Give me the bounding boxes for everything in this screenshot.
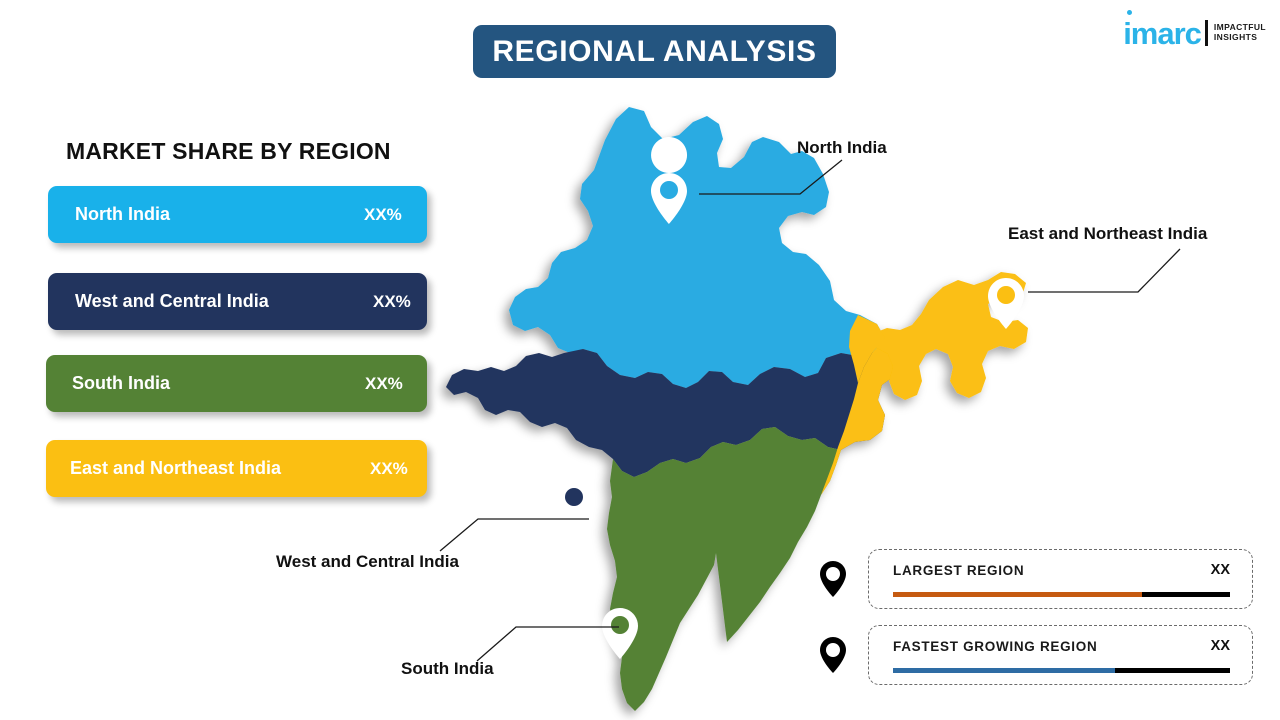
info-card-progress-fill [893, 592, 1142, 597]
logo-tagline: IMPACTFUL INSIGHTS [1214, 23, 1266, 43]
share-bar-value: XX% [364, 205, 402, 225]
logo-wordmark: imarc [1123, 18, 1201, 49]
info-card-label: LARGEST REGION [893, 563, 1024, 578]
logo-tagline-line2: INSIGHTS [1214, 33, 1266, 43]
share-bar-label: East and Northeast India [70, 458, 281, 479]
share-bar-south-india[interactable]: South IndiaXX% [46, 355, 427, 412]
share-bar-east-and-northeast-india[interactable]: East and Northeast IndiaXX% [46, 440, 427, 497]
page-title: REGIONAL ANALYSIS [492, 35, 816, 69]
share-bar-value: XX% [373, 292, 411, 312]
share-bar-label: South India [72, 373, 170, 394]
share-bar-value: XX% [365, 374, 403, 394]
share-bar-value: XX% [370, 459, 408, 479]
logo-dot-icon [1127, 10, 1132, 15]
callout-label-east-and-northeast-india: East and Northeast India [1008, 224, 1207, 244]
share-bar-label: West and Central India [75, 291, 269, 312]
info-card-progress-track [893, 592, 1230, 597]
market-share-heading: MARKET SHARE BY REGION [66, 138, 391, 165]
slide-canvas: REGIONAL ANALYSIS imarc IMPACTFUL INSIGH… [0, 0, 1280, 720]
info-card-value: XX [1211, 638, 1230, 654]
map-pin-west-central-india[interactable] [556, 480, 592, 531]
info-card-largest-region[interactable]: LARGEST REGIONXX [868, 549, 1253, 609]
share-bar-label: North India [75, 204, 170, 225]
page-title-banner: REGIONAL ANALYSIS [473, 25, 836, 78]
info-card-progress-fill [893, 668, 1115, 673]
logo-divider [1205, 20, 1208, 46]
location-pin-icon [818, 560, 848, 598]
info-card-value: XX [1211, 562, 1230, 578]
callout-label-west-and-central-india: West and Central India [276, 552, 459, 572]
logo-brand-text: imarc [1123, 16, 1201, 51]
share-bar-north-india[interactable]: North IndiaXX% [48, 186, 427, 243]
info-card-label: FASTEST GROWING REGION [893, 639, 1097, 654]
imarc-logo: imarc IMPACTFUL INSIGHTS [1123, 14, 1266, 52]
location-pin-icon [818, 636, 848, 674]
info-card-fastest-growing-region[interactable]: FASTEST GROWING REGIONXX [868, 625, 1253, 685]
callout-label-north-india: North India [797, 138, 887, 158]
callout-label-south-india: South India [401, 659, 494, 679]
info-card-progress-track [893, 668, 1230, 673]
share-bar-west-and-central-india[interactable]: West and Central IndiaXX% [48, 273, 427, 330]
